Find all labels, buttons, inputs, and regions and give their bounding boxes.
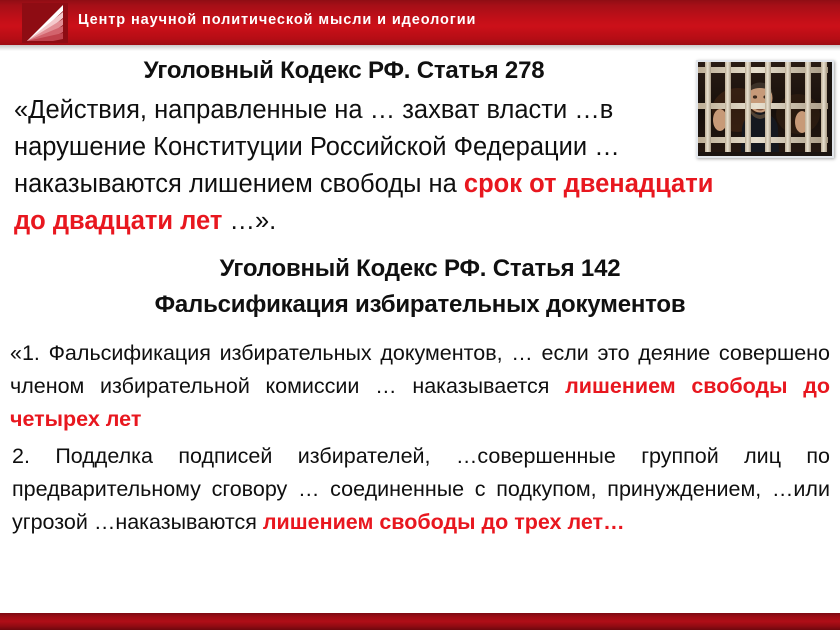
article-278-line: «Действия, направленные на … захват влас…	[14, 92, 826, 129]
text-segment: нарушение Конституции Российской Федерац…	[14, 133, 620, 161]
header-bar: Центр научной политической мысли и идеол…	[0, 0, 840, 45]
fan-rays-logo-icon	[22, 3, 68, 43]
text-segment-highlight: до двадцати лет	[14, 207, 222, 235]
article-278-heading: Уголовный Кодекс РФ. Статья 278	[8, 57, 680, 85]
text-segment: «Действия, направленные на … захват влас…	[14, 96, 613, 124]
article-142-paragraph-2: 2. Подделка подписей избирателей, …совер…	[12, 440, 830, 539]
article-278-line: до двадцати лет …».	[14, 203, 826, 240]
text-segment-highlight: лишением свободы до трех лет…	[263, 510, 625, 534]
article-278-text: «Действия, направленные на … захват влас…	[14, 92, 826, 240]
article-278-line: нарушение Конституции Российской Федерац…	[14, 129, 826, 166]
article-278-line: наказываются лишением свободы на срок от…	[14, 166, 826, 203]
org-title: Центр научной политической мысли и идеол…	[78, 12, 476, 28]
article-142-heading: Уголовный Кодекс РФ. Статья 142	[0, 255, 840, 283]
footer-bar	[0, 613, 840, 630]
article-142-subheading: Фальсификация избирательных документов	[0, 291, 840, 319]
text-segment: наказываются лишением свободы на	[14, 170, 464, 198]
article-142-paragraph-1: «1. Фальсификация избирательных документ…	[10, 337, 830, 436]
text-segment-highlight: срок от двенадцати	[464, 170, 714, 198]
slide-content: Уголовный Кодекс РФ. Статья 278 «Действи…	[0, 45, 840, 613]
text-segment: …».	[222, 207, 276, 235]
